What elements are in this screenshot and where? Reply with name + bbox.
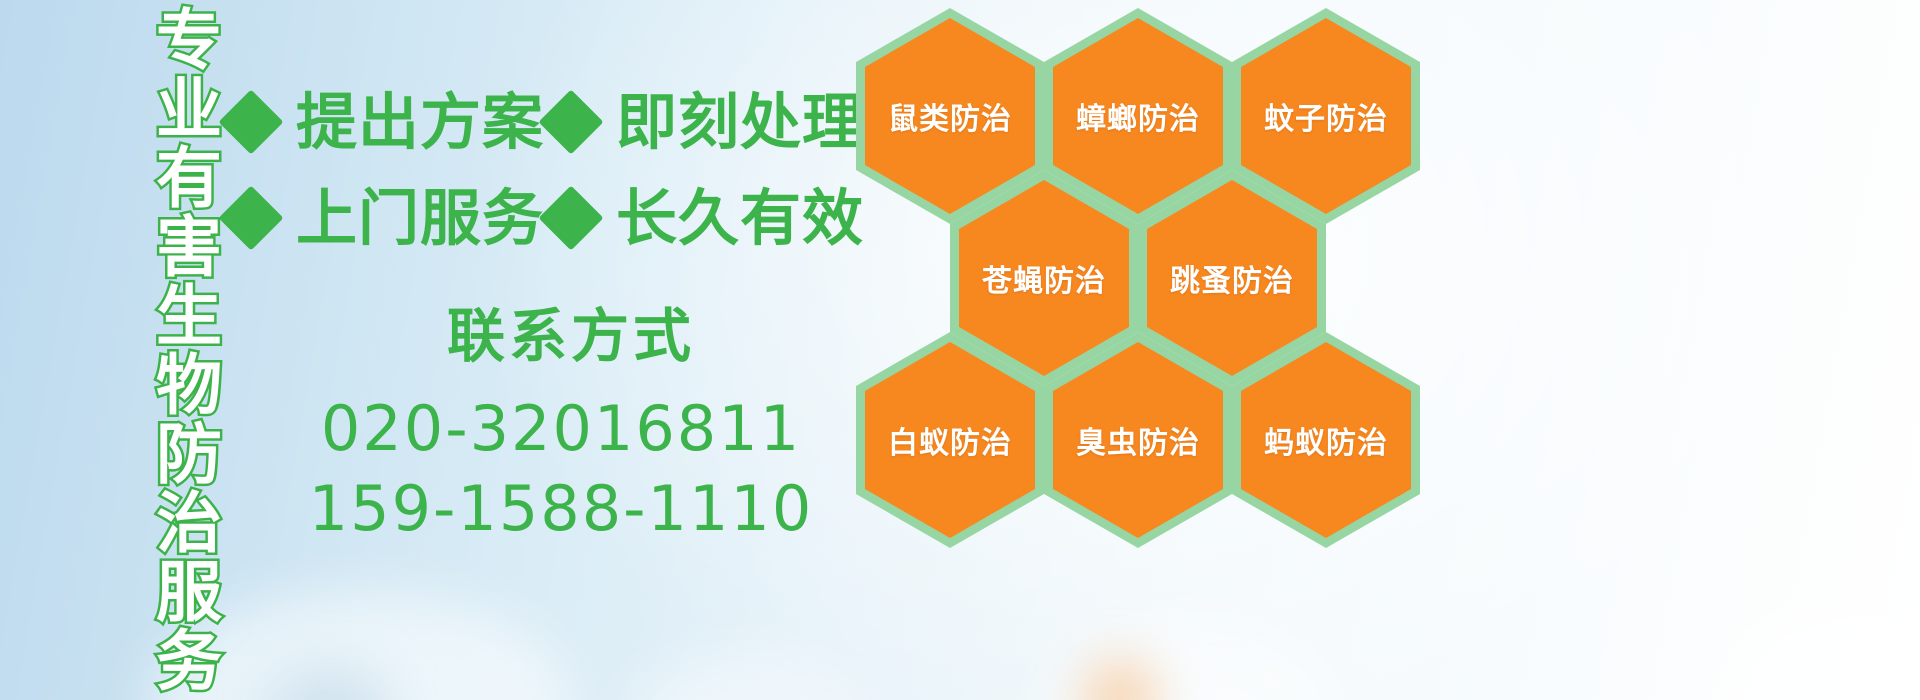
feature-label: 上门服务	[296, 188, 544, 249]
feature-row: 提出方案 即刻处理	[228, 74, 868, 170]
phone-number-landline[interactable]: 020-32016811	[228, 389, 868, 470]
background-blur-blob	[620, 650, 880, 700]
vertical-company-title: 专业有害生物防治服务	[112, 14, 217, 686]
service-label: 臭虫防治	[1044, 332, 1232, 548]
feature-item-long-lasting-effect: 长久有效	[548, 188, 864, 249]
feature-item-immediate-treatment: 即刻处理	[548, 92, 864, 153]
feature-label: 提出方案	[296, 92, 544, 153]
contact-block: 联系方式 020-32016811 159-1588-1110	[228, 300, 868, 550]
feature-item-propose-plan: 提出方案	[228, 92, 548, 153]
service-honeycomb: 鼠类防治 蟑螂防治 蚊子防治 苍蝇防治 跳蚤防治 白蚁防治	[852, 0, 1472, 700]
diamond-icon	[538, 185, 603, 250]
diamond-icon	[538, 89, 603, 154]
service-hex-termite[interactable]: 白蚁防治	[856, 332, 1044, 548]
phone-number-mobile[interactable]: 159-1588-1110	[228, 469, 868, 550]
feature-list: 提出方案 即刻处理 上门服务 长久有效	[228, 74, 868, 266]
pest-control-banner: 专业有害生物防治服务 提出方案 即刻处理 上门服务 长久有效 联系方式	[0, 0, 1920, 700]
service-hex-bedbug[interactable]: 臭虫防治	[1044, 332, 1232, 548]
service-label: 白蚁防治	[856, 332, 1044, 548]
service-hex-ant[interactable]: 蚂蚁防治	[1232, 332, 1420, 548]
contact-title: 联系方式	[228, 300, 868, 373]
diamond-icon	[218, 185, 283, 250]
feature-row: 上门服务 长久有效	[228, 170, 868, 266]
background-blur-blob	[270, 670, 390, 700]
service-label: 蚂蚁防治	[1232, 332, 1420, 548]
feature-label: 长久有效	[616, 188, 864, 249]
feature-label: 即刻处理	[616, 92, 864, 153]
diamond-icon	[218, 89, 283, 154]
feature-item-door-to-door-service: 上门服务	[228, 188, 548, 249]
background-blur-blob	[1700, 590, 1920, 700]
